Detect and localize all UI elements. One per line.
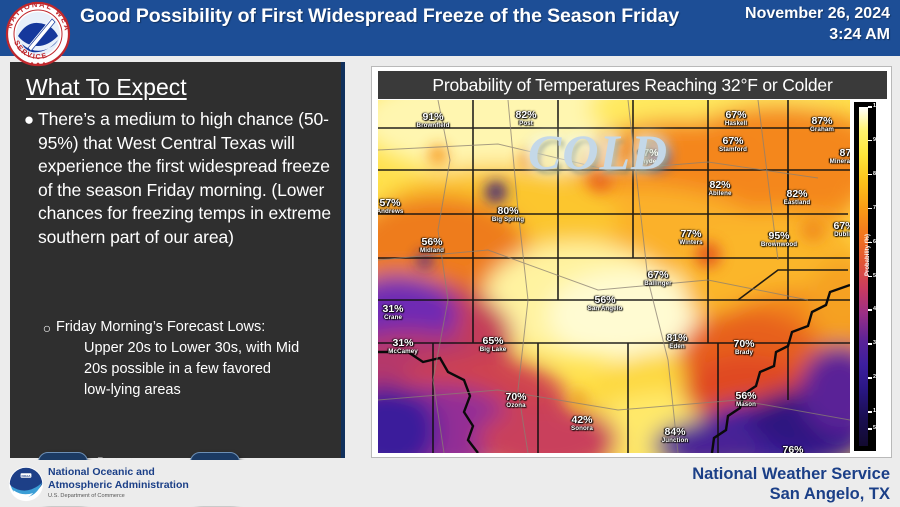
colorbar-tick-label: 60 [873,239,879,245]
nws-office-line1: National Weather Service [692,464,890,484]
forecast-lows-line1: Upper 20s to Lower 30s, with Mid [56,338,299,359]
sub-bullet-text: Friday Morning’s Forecast Lows: Upper 20… [56,317,299,401]
panel-heading: What To Expect [26,74,187,101]
colorbar-tick-mark [868,208,872,210]
header-datetime: November 26, 2024 3:24 AM [700,3,890,45]
colorbar-frame: 1009080706050403020105 Probability (%) [854,102,876,451]
colorbar-axis-label: Probability (%) [865,225,871,285]
forecast-lows-line3: low-lying areas [56,380,299,401]
colorbar-tick-mark [868,377,872,379]
colorbar-tick-mark [868,428,872,430]
sub-bullet-marker-icon: ○ [38,317,56,401]
colorbar-tick-mark [868,343,872,345]
colorbar-tick-label: 100 [873,103,882,109]
colorbar-tick-mark [868,106,872,108]
main-bullet: ● There’s a medium to high chance (50-95… [20,108,342,249]
colorbar-tick-mark [868,309,872,311]
what-to-expect-panel: What To Expect ● There’s a medium to hig… [10,62,345,458]
header-bar: NATIONAL WEATHER SERVICE Good Possibilit… [0,0,900,56]
cold-annotation: COLD [528,123,668,181]
forecast-lows-line2: 20s possible in a few favored [56,359,299,380]
colorbar-tick-label: 10 [873,408,879,414]
noaa-line1: National Oceanic and [48,466,189,479]
bullet-marker-icon: ● [20,108,38,249]
header-time: 3:24 AM [700,24,890,45]
colorbar-ticks: 1009080706050403020105 [868,107,888,446]
probability-heatmap: COLD 91%Brownfield82%Post67%Snyder67%Has… [378,100,850,453]
footer-bar: NOAA National Oceanic and Atmospheric Ad… [0,460,900,506]
noaa-department: U.S. Department of Commerce [48,493,125,499]
page-title: Good Possibility of First Widespread Fre… [80,4,760,28]
colorbar-tick-label: 80 [873,171,879,177]
colorbar-tick-label: 70 [873,205,879,211]
nws-seal-icon: NATIONAL WEATHER SERVICE [2,0,74,70]
noaa-line2: Atmospheric Administration [48,479,189,492]
colorbar-tick-label: 50 [873,273,879,279]
noaa-logo-icon: NOAA [8,466,44,502]
colorbar-tick-label: 20 [873,374,879,380]
sub-bullet: ○ Friday Morning’s Forecast Lows: Upper … [38,317,348,401]
noaa-name: National Oceanic and Atmospheric Adminis… [48,466,189,491]
colorbar: 1009080706050403020105 Probability (%) [854,100,888,453]
colorbar-tick-label: 40 [873,306,879,312]
nws-office-line2: San Angelo, TX [692,484,890,504]
header-date: November 26, 2024 [700,3,890,24]
colorbar-tick-label: 5 [873,425,876,431]
colorbar-tick-mark [868,140,872,142]
colorbar-tick-mark [868,174,872,176]
colorbar-tick-label: 30 [873,340,879,346]
map-title: Probability of Temperatures Reaching 32°… [378,71,887,99]
colorbar-tick-mark [868,411,872,413]
svg-text:NOAA: NOAA [22,474,32,478]
main-bullet-text: There’s a medium to high chance (50-95%)… [38,108,342,249]
colorbar-tick-label: 90 [873,137,879,143]
map-panel: Probability of Temperatures Reaching 32°… [371,66,892,458]
forecast-lows-title: Friday Morning’s Forecast Lows: [56,319,265,335]
nws-office: National Weather Service San Angelo, TX [692,464,890,504]
